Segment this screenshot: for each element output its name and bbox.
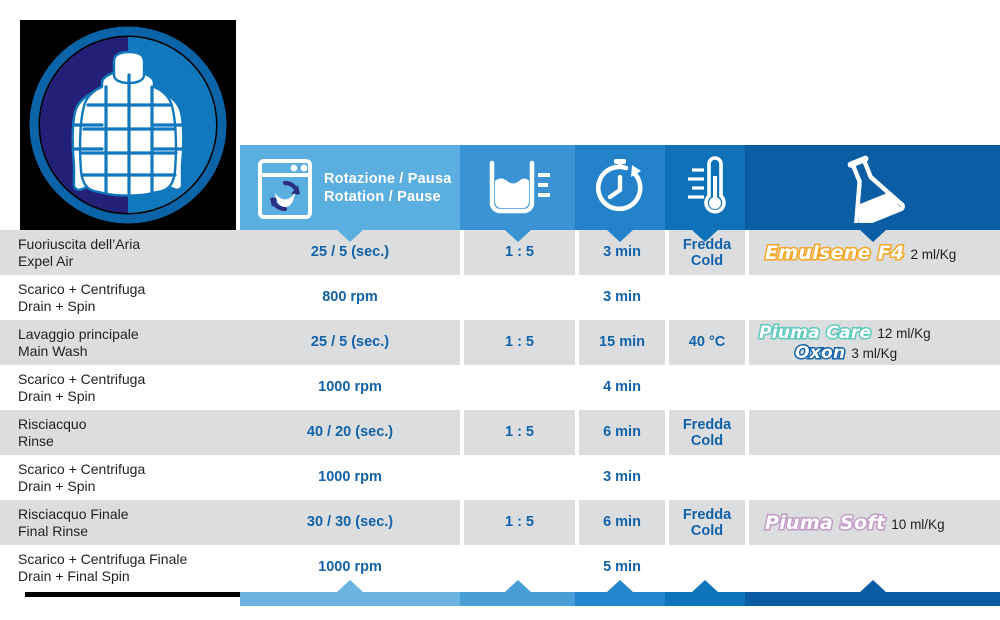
product-dose: 10 ml/Kg <box>891 517 944 532</box>
cell-ratio <box>464 365 575 410</box>
cell-ratio: 1 : 5 <box>464 410 575 455</box>
cell-rotation: 30 / 30 (sec.) <box>240 500 460 545</box>
table-row: Lavaggio principaleMain Wash 25 / 5 (sec… <box>0 320 1000 365</box>
header-cell-rotation: Rotazione / PausaRotation / Pause <box>240 145 460 230</box>
scale-segment <box>240 592 460 606</box>
header-cell-product <box>745 145 1000 230</box>
table-row: Scarico + CentrifugaDrain + Spin 800 rpm… <box>0 275 1000 320</box>
cell-rotation: 40 / 20 (sec.) <box>240 410 460 455</box>
cell-time: 6 min <box>579 410 665 455</box>
scale-segment <box>745 592 1000 606</box>
stopwatch-timer-icon <box>588 156 652 220</box>
row-name: Scarico + CentrifugaDrain + Spin <box>0 365 240 410</box>
cell-time: 6 min <box>579 500 665 545</box>
bottom-rule <box>25 592 243 597</box>
cell-temperature: FreddaCold <box>669 500 745 545</box>
cell-product <box>749 455 1000 500</box>
table-row: Scarico + CentrifugaDrain + Spin 1000 rp… <box>0 455 1000 500</box>
scale-segment <box>575 592 665 606</box>
table-row: Scarico + CentrifugaDrain + Spin 1000 rp… <box>0 365 1000 410</box>
row-name: Scarico + Centrifuga FinaleDrain + Final… <box>0 545 240 590</box>
cell-rotation: 1000 rpm <box>240 455 460 500</box>
cell-time: 3 min <box>579 275 665 320</box>
cell-temperature: FreddaCold <box>669 410 745 455</box>
header-notch <box>860 230 886 242</box>
cell-temperature <box>669 365 745 410</box>
header-notch <box>337 230 363 242</box>
header-cell-temperature <box>665 145 745 230</box>
down-jacket-icon <box>28 25 228 225</box>
water-level-bath-icon <box>480 155 556 221</box>
cell-temperature <box>669 275 745 320</box>
header-cell-time <box>575 145 665 230</box>
row-name: Fuoriuscita dell’AriaExpel Air <box>0 230 240 275</box>
table-header: Rotazione / PausaRotation / Pause <box>240 145 1000 230</box>
wash-program-table: Rotazione / PausaRotation / Pause <box>0 0 1000 620</box>
header-notch <box>505 230 531 242</box>
header-label-rotation: Rotazione / PausaRotation / Pause <box>324 170 452 206</box>
table-row: Risciacquo FinaleFinal Rinse 30 / 30 (se… <box>0 500 1000 545</box>
cell-temperature: 40 °C <box>669 320 745 365</box>
scale-peak <box>505 580 531 592</box>
cell-rotation: 25 / 5 (sec.) <box>240 320 460 365</box>
scale-peak <box>692 580 718 592</box>
product-dose: 12 ml/Kg <box>877 326 930 341</box>
table-body: Fuoriuscita dell’AriaExpel Air 25 / 5 (s… <box>0 230 1000 590</box>
product-list: Piuma Soft 10 ml/Kg <box>749 512 1000 534</box>
scale-peak <box>337 580 363 592</box>
table-row: Fuoriuscita dell’AriaExpel Air 25 / 5 (s… <box>0 230 1000 275</box>
product-list: Piuma Care 12 ml/Kg Oxon 3 ml/Kg <box>749 323 1000 363</box>
scale-segment <box>460 592 575 606</box>
header-notch <box>607 230 633 242</box>
table-row: RisciacquoRinse 40 / 20 (sec.) 1 : 5 6 m… <box>0 410 1000 455</box>
product-logo: Emulsene F4 <box>765 242 905 264</box>
cell-product <box>749 275 1000 320</box>
cell-time: 3 min <box>579 455 665 500</box>
cell-ratio: 1 : 5 <box>464 320 575 365</box>
product-dose: 3 ml/Kg <box>851 346 897 361</box>
row-name: Lavaggio principaleMain Wash <box>0 320 240 365</box>
garment-badge <box>20 20 236 230</box>
row-name: Scarico + CentrifugaDrain + Spin <box>0 455 240 500</box>
header-cell-ratio <box>460 145 575 230</box>
product-logo: Oxon <box>795 343 845 363</box>
product-dose: 2 ml/Kg <box>911 247 957 262</box>
cell-product: Piuma Care 12 ml/Kg Oxon 3 ml/Kg <box>749 320 1000 365</box>
row-name: RisciacquoRinse <box>0 410 240 455</box>
row-name: Risciacquo FinaleFinal Rinse <box>0 500 240 545</box>
erlenmeyer-flask-icon <box>827 153 919 223</box>
header-notch <box>692 230 718 242</box>
cell-product: Piuma Soft 10 ml/Kg <box>749 500 1000 545</box>
cell-rotation: 1000 rpm <box>240 365 460 410</box>
table-row: Scarico + Centrifuga FinaleDrain + Final… <box>0 545 1000 590</box>
scale-peak <box>607 580 633 592</box>
bottom-scale-bar <box>240 592 1000 606</box>
cell-time: 4 min <box>579 365 665 410</box>
product-logo: Piuma Care <box>759 323 871 343</box>
product-logo: Piuma Soft <box>765 512 885 534</box>
thermometer-icon <box>678 156 732 220</box>
product-entry: Piuma Care 12 ml/Kg <box>759 323 931 343</box>
product-entry: Piuma Soft 10 ml/Kg <box>765 512 945 534</box>
row-name: Scarico + CentrifugaDrain + Spin <box>0 275 240 320</box>
cell-ratio <box>464 275 575 320</box>
scale-segment <box>665 592 745 606</box>
product-list: Emulsene F4 2 ml/Kg <box>749 242 1000 264</box>
washing-machine-rotation-icon <box>252 155 318 221</box>
cell-ratio <box>464 455 575 500</box>
cell-product <box>749 410 1000 455</box>
scale-peak <box>860 580 886 592</box>
cell-temperature <box>669 455 745 500</box>
product-entry: Oxon 3 ml/Kg <box>759 343 897 363</box>
cell-rotation: 800 rpm <box>240 275 460 320</box>
cell-ratio: 1 : 5 <box>464 500 575 545</box>
cell-time: 15 min <box>579 320 665 365</box>
cell-product <box>749 365 1000 410</box>
product-entry: Emulsene F4 2 ml/Kg <box>765 242 956 264</box>
